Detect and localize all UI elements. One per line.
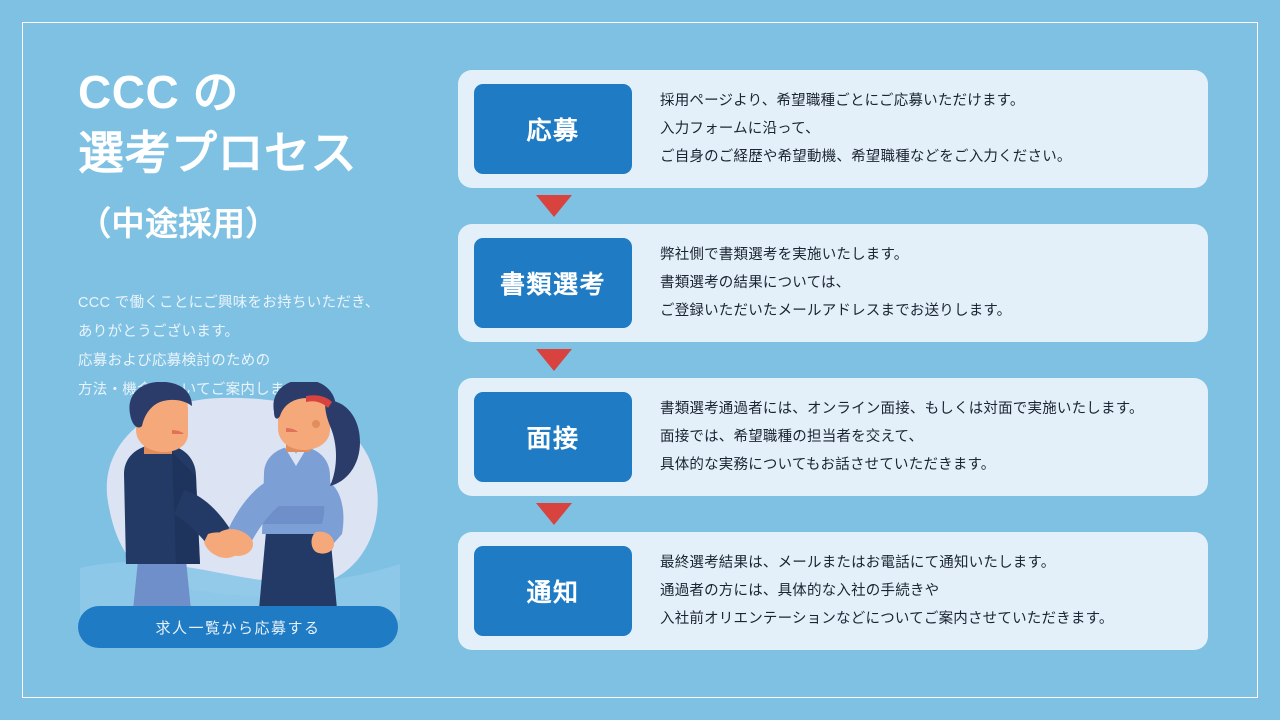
step-card-2: 書類選考 弊社側で書類選考を実施いたします。 書類選考の結果については、 ご登録…	[458, 224, 1208, 342]
apply-from-job-list-button[interactable]: 求人一覧から応募する	[78, 606, 398, 648]
step-badge-1: 応募	[474, 84, 632, 174]
step-body-3: 書類選考通過者には、オンライン面接、もしくは対面で実施いたします。 面接では、希…	[660, 395, 1144, 480]
step-body-4: 最終選考結果は、メールまたはお電話にて通知いたします。 通過者の方には、具体的な…	[660, 549, 1114, 634]
chevron-down-icon	[536, 195, 572, 217]
step-card-4: 通知 最終選考結果は、メールまたはお電話にて通知いたします。 通過者の方には、具…	[458, 532, 1208, 650]
step-card-1: 応募 採用ページより、希望職種ごとにご応募いただけます。 入力フォームに沿って、…	[458, 70, 1208, 188]
selection-process-flow: 応募 採用ページより、希望職種ごとにご応募いただけます。 入力フォームに沿って、…	[458, 70, 1208, 650]
page-subtitle: （中途採用）	[78, 197, 438, 245]
left-panel: CCC の 選考プロセス （中途採用） CCC で働くことにご興味をお持ちいただ…	[78, 62, 438, 405]
arrow-connector-3	[458, 496, 1208, 532]
step-badge-4: 通知	[474, 546, 632, 636]
step-badge-2: 書類選考	[474, 238, 632, 328]
page-title: CCC の 選考プロセス	[78, 62, 438, 183]
chevron-down-icon	[536, 349, 572, 371]
arrow-connector-2	[458, 342, 1208, 378]
woman-ear	[312, 420, 320, 428]
step-body-2: 弊社側で書類選考を実施いたします。 書類選考の結果については、 ご登録いただいた…	[660, 241, 1011, 326]
step-body-1: 採用ページより、希望職種ごとにご応募いただけます。 入力フォームに沿って、 ご自…	[660, 87, 1072, 172]
handshake-illustration	[80, 382, 400, 620]
step-badge-3: 面接	[474, 392, 632, 482]
step-card-3: 面接 書類選考通過者には、オンライン面接、もしくは対面で実施いたします。 面接で…	[458, 378, 1208, 496]
chevron-down-icon	[536, 503, 572, 525]
arrow-connector-1	[458, 188, 1208, 224]
